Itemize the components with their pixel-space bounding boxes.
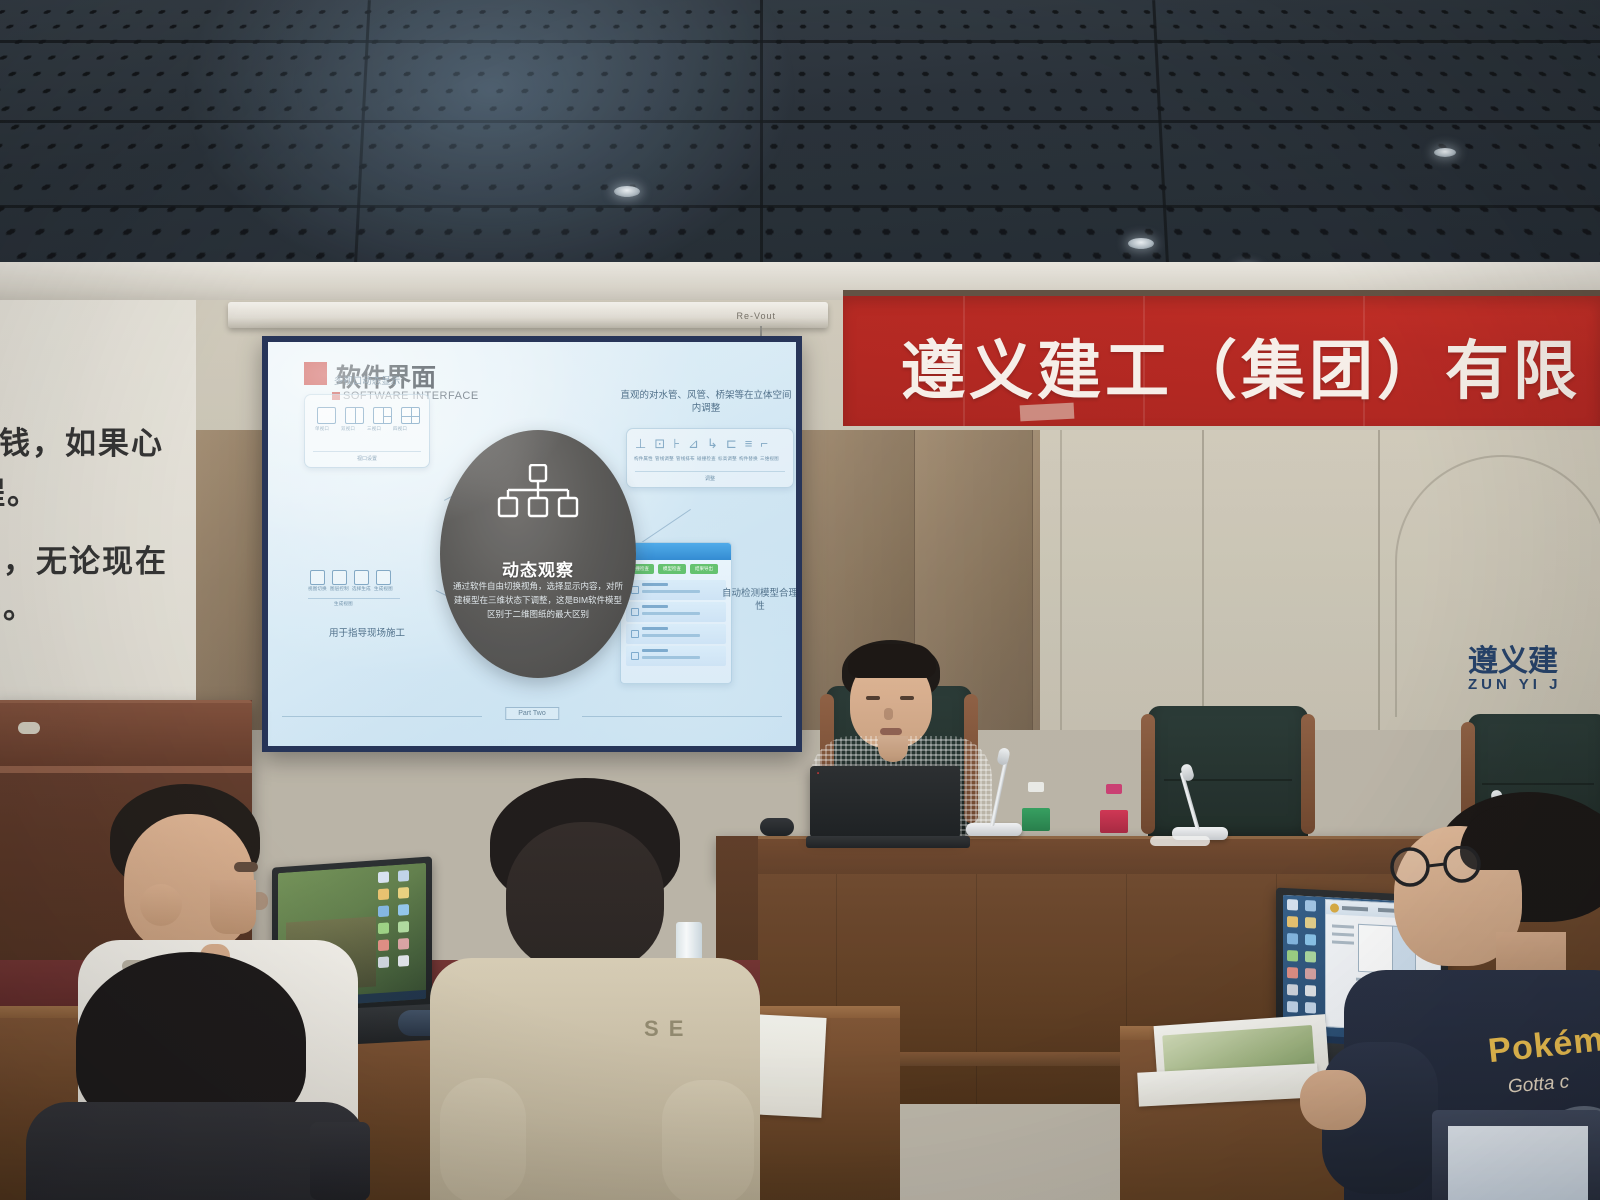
lectern-badge <box>18 722 40 734</box>
tool-card-footer: 生成视图 <box>334 601 353 607</box>
wall-seam <box>1378 430 1380 730</box>
presenter-eye-left <box>866 696 880 700</box>
attendee-head-back <box>506 822 664 972</box>
glyph-item-label: 三维视图 <box>760 456 779 462</box>
poster-line: 万。 <box>0 582 36 627</box>
presenter-mouse[interactable] <box>760 818 794 836</box>
dialog-tabs: 碰撞检查 模型检查 结果导出 <box>621 560 731 578</box>
viewport-double-icon <box>345 407 364 424</box>
poster-line: 惹钱，如果心 <box>0 418 164 463</box>
banner-text: 遵义建工（集团）有限 <box>901 320 1581 412</box>
viewport-card-footer: 视口设置 <box>313 451 421 462</box>
tool-card-divider <box>308 598 400 599</box>
glyph-card: ⊥ ⊡ ⊦ ⊿ ↳ ⊏ ≡ ⌐ 构件属性 管线调整 管线排布 碰撞检查 标高调整… <box>626 428 794 488</box>
tool-item-label: 图层控制 <box>330 586 349 592</box>
presenter-mouth <box>880 728 902 735</box>
downlight-icon <box>614 186 640 197</box>
footer-rule-left <box>282 716 482 717</box>
ceiling-light-glow <box>180 0 800 300</box>
slide-content: 软件界面 SOFTWARE INTERFACE 多视口动态显示 单视口 双视口 … <box>268 342 796 746</box>
microphone[interactable] <box>966 748 1022 836</box>
attendee-eye <box>234 862 258 872</box>
presenter-eye-right <box>900 696 914 700</box>
attendee-neck <box>210 880 256 934</box>
housing-brand-label: Re-Vout <box>736 311 776 321</box>
table-nameplate <box>1150 836 1210 846</box>
tool-icon-generate-view <box>376 570 391 585</box>
viewport-item-label: 四视口 <box>393 426 407 432</box>
glyph-item-label: 标高调整 <box>718 456 737 462</box>
viewport-item-label: 单视口 <box>315 426 329 432</box>
banner-tape <box>1020 403 1075 422</box>
lectern-top <box>0 700 252 769</box>
callout-label-bottom-left: 用于指导现场施工 <box>292 628 442 641</box>
dialog-row <box>626 646 726 666</box>
tool-item-label: 生成视图 <box>374 586 393 592</box>
glyph-icon-5: ⊏ <box>726 437 737 450</box>
glyph-item-label: 构件替换 <box>739 456 758 462</box>
projection-screen: 软件界面 SOFTWARE INTERFACE 多视口动态显示 单视口 双视口 … <box>262 336 802 752</box>
dialog-screenshot: 碰撞检查 模型检查 结果导出 <box>620 542 732 684</box>
callout-label-bottom-right: 自动检测模型合理性 <box>720 588 796 614</box>
presenter-nose <box>884 708 893 720</box>
footer-rule-right <box>582 716 782 717</box>
glyph-item-label: 构件属性 <box>634 456 653 462</box>
org-chart-icon <box>496 464 580 522</box>
left-wall-panel: 惹钱，如果心 程。 万，无论现在 万。 <box>0 300 196 720</box>
microphone[interactable] <box>1172 764 1228 840</box>
background-laptop-screen <box>1448 1126 1588 1200</box>
wall-seam <box>1060 430 1062 730</box>
viewport-quad-icon <box>401 407 420 424</box>
thinkpad-logo: • <box>817 771 819 777</box>
downlight-icon <box>1128 238 1154 249</box>
glyph-item-label: 碰撞检查 <box>697 456 716 462</box>
red-banner: 遵义建工（集团）有限 <box>843 296 1600 426</box>
shirt-graphic: S E <box>644 1016 710 1068</box>
attendee-hand <box>140 884 182 926</box>
dialog-row <box>626 624 726 644</box>
tool-icon-select-generate <box>354 570 369 585</box>
tool-item-label: 视图切换 <box>308 586 327 592</box>
wall-logo-en: ZUN YI J <box>1468 676 1561 693</box>
lectern-lip <box>0 766 252 773</box>
center-heading: 动态观察 <box>440 556 636 581</box>
attendee-hand <box>1300 1070 1366 1130</box>
presenter-neck <box>878 736 908 762</box>
glyph-card-footer: 调整 <box>635 471 785 482</box>
water-bottle-green[interactable] <box>1022 782 1050 840</box>
glyph-icon-4: ↳ <box>707 437 718 450</box>
glyph-icon-0: ⊥ <box>635 437 646 450</box>
dialog-row <box>626 580 726 600</box>
poster-line: 程。 <box>0 468 40 513</box>
tool-item-label: 选择生成 <box>352 586 371 592</box>
center-circle: 动态观察 通过软件自由切换视角，选择显示内容，对所建模型在三维状态下调整，这是B… <box>440 430 636 678</box>
glyph-icon-7: ⌐ <box>760 437 768 450</box>
glyph-icon-3: ⊿ <box>688 437 699 450</box>
glyph-item-label: 管线排布 <box>676 456 695 462</box>
dialog-row <box>626 602 726 622</box>
presenter-laptop[interactable]: • <box>810 766 970 848</box>
glyph-icon-6: ≡ <box>745 437 753 450</box>
dialog-titlebar <box>621 543 731 560</box>
chair-back-foreground[interactable] <box>310 1122 370 1200</box>
callout-label-top-left: 多视口动态显示 <box>292 376 442 389</box>
glyph-item-label: 管线调整 <box>655 456 674 462</box>
wall-logo-cn: 遵义建 <box>1468 636 1558 680</box>
screenshot-root: 惹钱，如果心 程。 万，无论现在 万。 遵义建 ZUN YI J 遵义建工（集团… <box>0 0 1600 1200</box>
slide-footer-label: Part Two <box>505 707 559 720</box>
water-bottle-pink-cap[interactable] <box>1100 784 1128 842</box>
attendee-arm <box>440 1078 526 1200</box>
downlight-icon <box>1434 148 1456 157</box>
tool-icon-view-switch <box>310 570 325 585</box>
projector-screen-housing: Re-Vout <box>228 302 828 328</box>
viewport-item-label: 三视口 <box>367 426 381 432</box>
glasses-icon <box>1384 846 1494 888</box>
tool-icon-layer-control <box>332 570 347 585</box>
poster-line: 万，无论现在 <box>0 536 168 581</box>
dialog-tab[interactable]: 结果导出 <box>690 564 718 574</box>
attendee-arm <box>662 1080 754 1200</box>
ceiling-panels <box>0 0 1600 300</box>
glyph-icon-2: ⊦ <box>673 437 680 450</box>
viewport-triple-icon <box>373 407 392 424</box>
center-body-text: 通过软件自由切换视角，选择显示内容，对所建模型在三维状态下调整，这是BIM软件模… <box>452 580 624 621</box>
dialog-tab[interactable]: 模型检查 <box>658 564 686 574</box>
attendee-center: S E <box>430 778 760 1200</box>
glyph-icon-1: ⊡ <box>654 437 665 450</box>
callout-label-top-right: 直观的对水管、风管、桥架等在立体空间内调整 <box>620 390 792 416</box>
viewport-card: 单视口 双视口 三视口 四视口 视口设置 <box>304 394 430 468</box>
viewport-item-label: 双视口 <box>341 426 355 432</box>
viewport-single-icon <box>317 407 336 424</box>
wall-seam <box>1202 430 1204 730</box>
presenter-hair-front <box>848 644 936 678</box>
